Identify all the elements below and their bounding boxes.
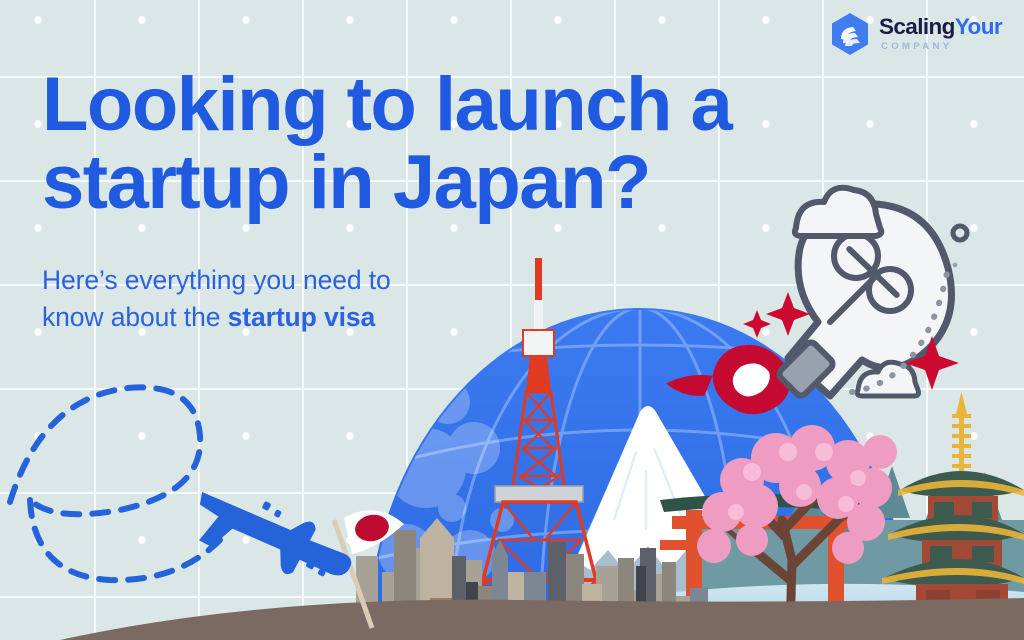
logo-text-block: ScalingYour COMPANY: [879, 16, 1002, 51]
ground-mound: [60, 598, 1024, 640]
subhead-line-2-emphasis: startup visa: [228, 302, 376, 332]
logo-name-part-two: Your: [955, 14, 1002, 39]
page-subtitle: Here’s everything you need to know about…: [42, 262, 472, 336]
flight-path-dashed-loop: [10, 387, 220, 580]
ring-dot-decoration: [953, 226, 967, 267]
hexagon-signal-icon: [830, 12, 870, 56]
logo-tagline: COMPANY: [879, 42, 1002, 52]
headline-line-1: Looking to launch a: [42, 62, 731, 147]
brand-logo[interactable]: ScalingYour COMPANY: [830, 12, 1002, 56]
logo-name-part-one: Scaling: [879, 14, 955, 39]
page-title: Looking to launch a startup in Japan?: [42, 66, 832, 221]
headline-line-2: startup in Japan?: [42, 144, 832, 222]
subhead-line-1: Here’s everything you need to: [42, 265, 391, 295]
subhead-line-2-prefix: know about the: [42, 302, 228, 332]
banner-canvas: Looking to launch a startup in Japan? He…: [0, 0, 1024, 640]
airplane-icon: [181, 470, 360, 609]
